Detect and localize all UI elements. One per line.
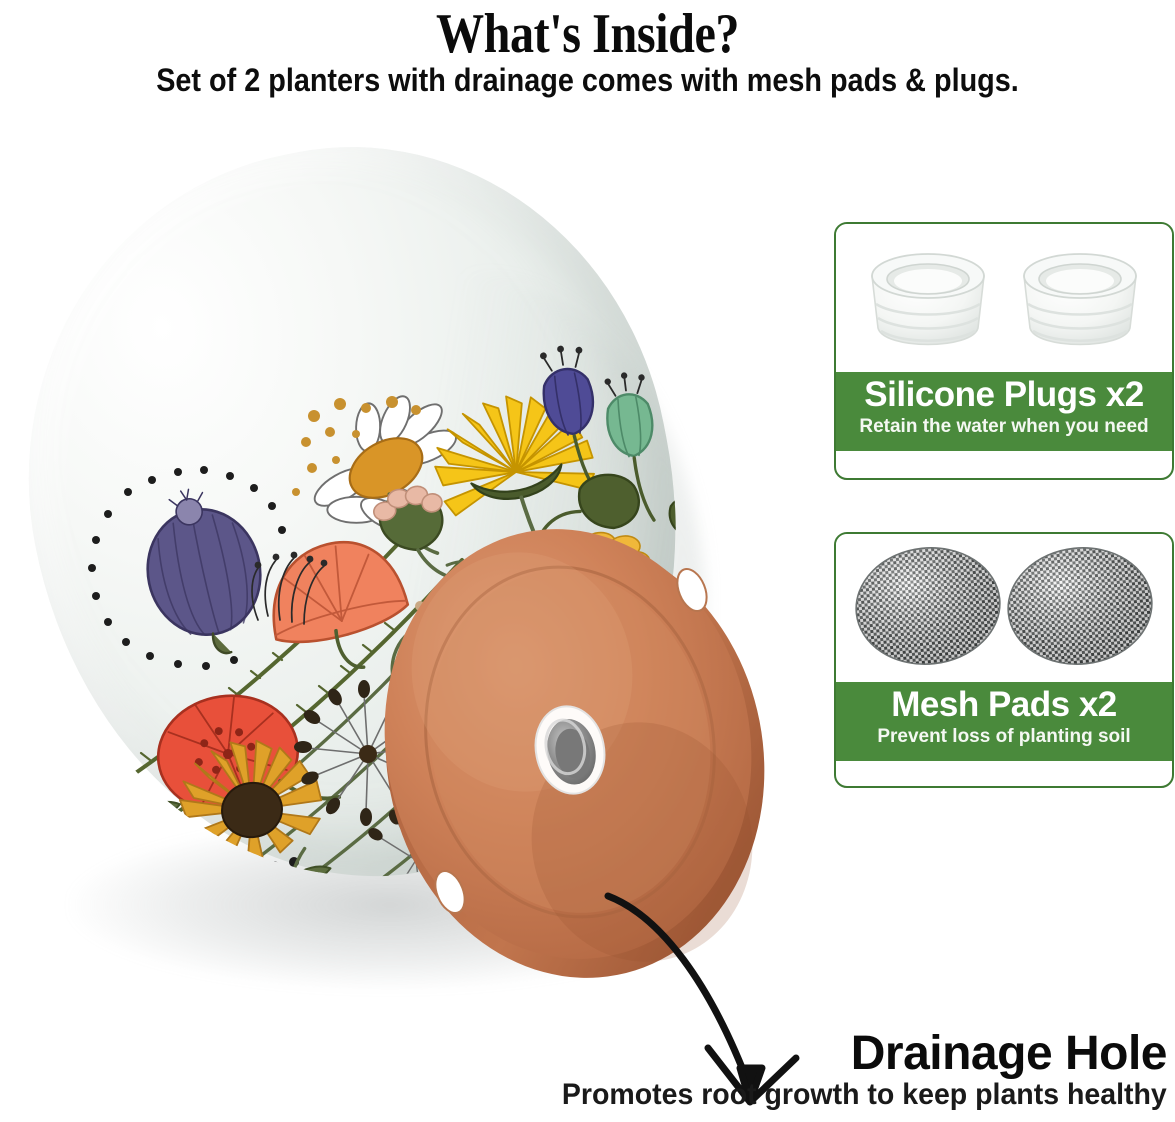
- product-infographic: What's Inside? Set of 2 planters with dr…: [0, 0, 1175, 1122]
- page-subtitle: Set of 2 planters with drainage comes wi…: [59, 62, 1117, 99]
- feature-card-silicone-plugs: Silicone Plugs x2 Retain the water when …: [834, 222, 1174, 480]
- drainage-hole-caption-title: Drainage Hole: [851, 1026, 1167, 1081]
- planter-photo: [0, 120, 830, 1020]
- feature-card-mesh-pads: Mesh Pads x2 Prevent loss of planting so…: [834, 532, 1174, 788]
- card-subtitle: Retain the water when you need: [846, 416, 1162, 439]
- mesh-pads-label: Mesh Pads x2 Prevent loss of planting so…: [836, 682, 1172, 761]
- card-subtitle: Prevent loss of planting soil: [846, 726, 1162, 749]
- silicone-plugs-label: Silicone Plugs x2 Retain the water when …: [836, 372, 1172, 451]
- page-title: What's Inside?: [82, 2, 1093, 66]
- card-title: Mesh Pads x2: [846, 686, 1162, 724]
- silicone-plug-icon: [836, 224, 1172, 372]
- drainage-hole-caption-subtitle: Promotes root growth to keep plants heal…: [562, 1078, 1167, 1112]
- silicone-plugs-photo: [836, 224, 1172, 372]
- card-title: Silicone Plugs x2: [846, 376, 1162, 414]
- mesh-pad-icon: [836, 534, 1172, 682]
- mesh-pads-photo: [836, 534, 1172, 682]
